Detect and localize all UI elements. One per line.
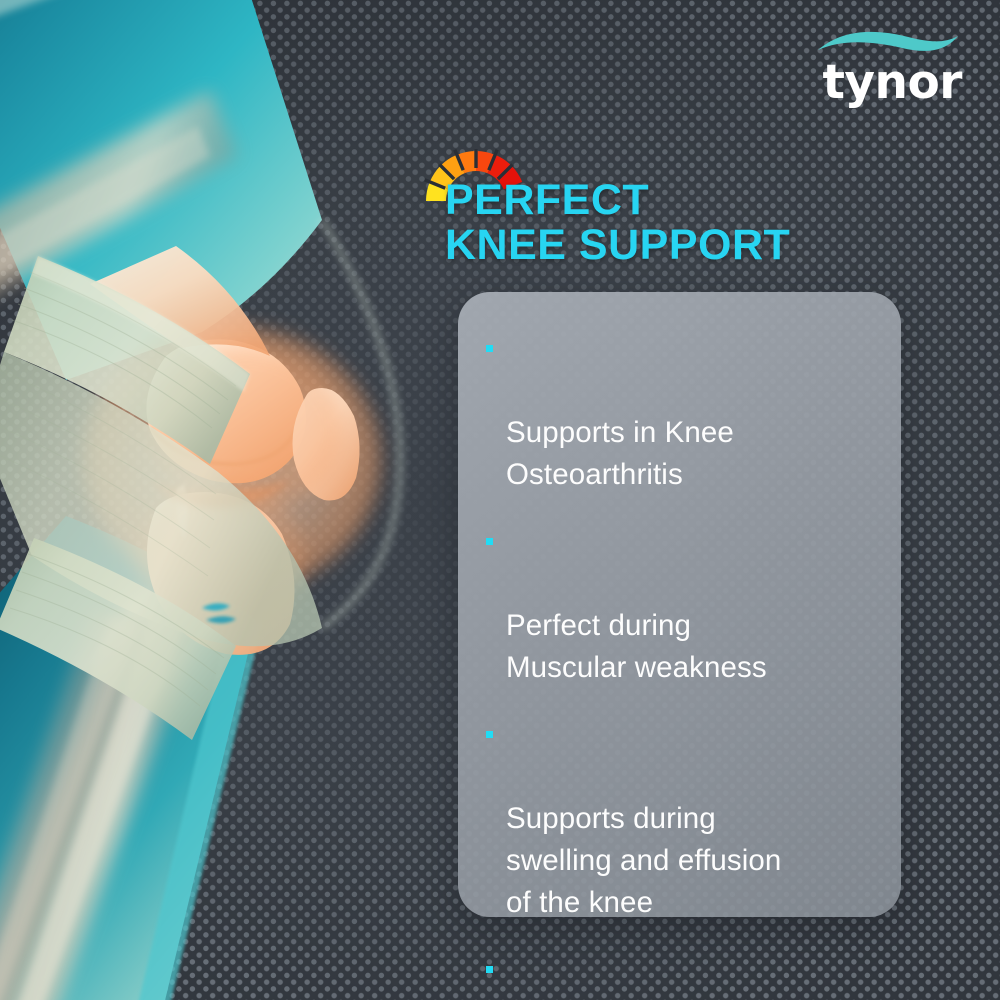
- list-item: Supports in Knee Osteoarthritis: [474, 328, 875, 496]
- bullet-square-icon: [486, 345, 493, 352]
- bullet-square-icon: [486, 731, 493, 738]
- bullet-square-icon: [486, 538, 493, 545]
- list-item: Perfect during Muscular weakness: [474, 521, 875, 689]
- logo-wordmark: tynor: [812, 59, 962, 106]
- page-title: PERFECT KNEE SUPPORT: [445, 178, 790, 268]
- list-item-label: Supports during swelling and effusion of…: [506, 802, 781, 919]
- bullet-square-icon: [486, 966, 493, 973]
- poster-canvas: tynor: [0, 0, 1000, 1000]
- tynor-logo[interactable]: tynor: [812, 26, 962, 104]
- feature-list: Supports in Knee Osteoarthritis Perfect …: [474, 328, 875, 1000]
- list-item-label: Supports in Knee Osteoarthritis: [506, 416, 734, 491]
- list-item-label: Perfect during Muscular weakness: [506, 609, 767, 684]
- feature-card: Supports in Knee Osteoarthritis Perfect …: [458, 292, 901, 917]
- list-item: Supports during swelling and effusion of…: [474, 714, 875, 924]
- list-item: Helps in Post-surgical rehabilitation: [474, 949, 875, 1000]
